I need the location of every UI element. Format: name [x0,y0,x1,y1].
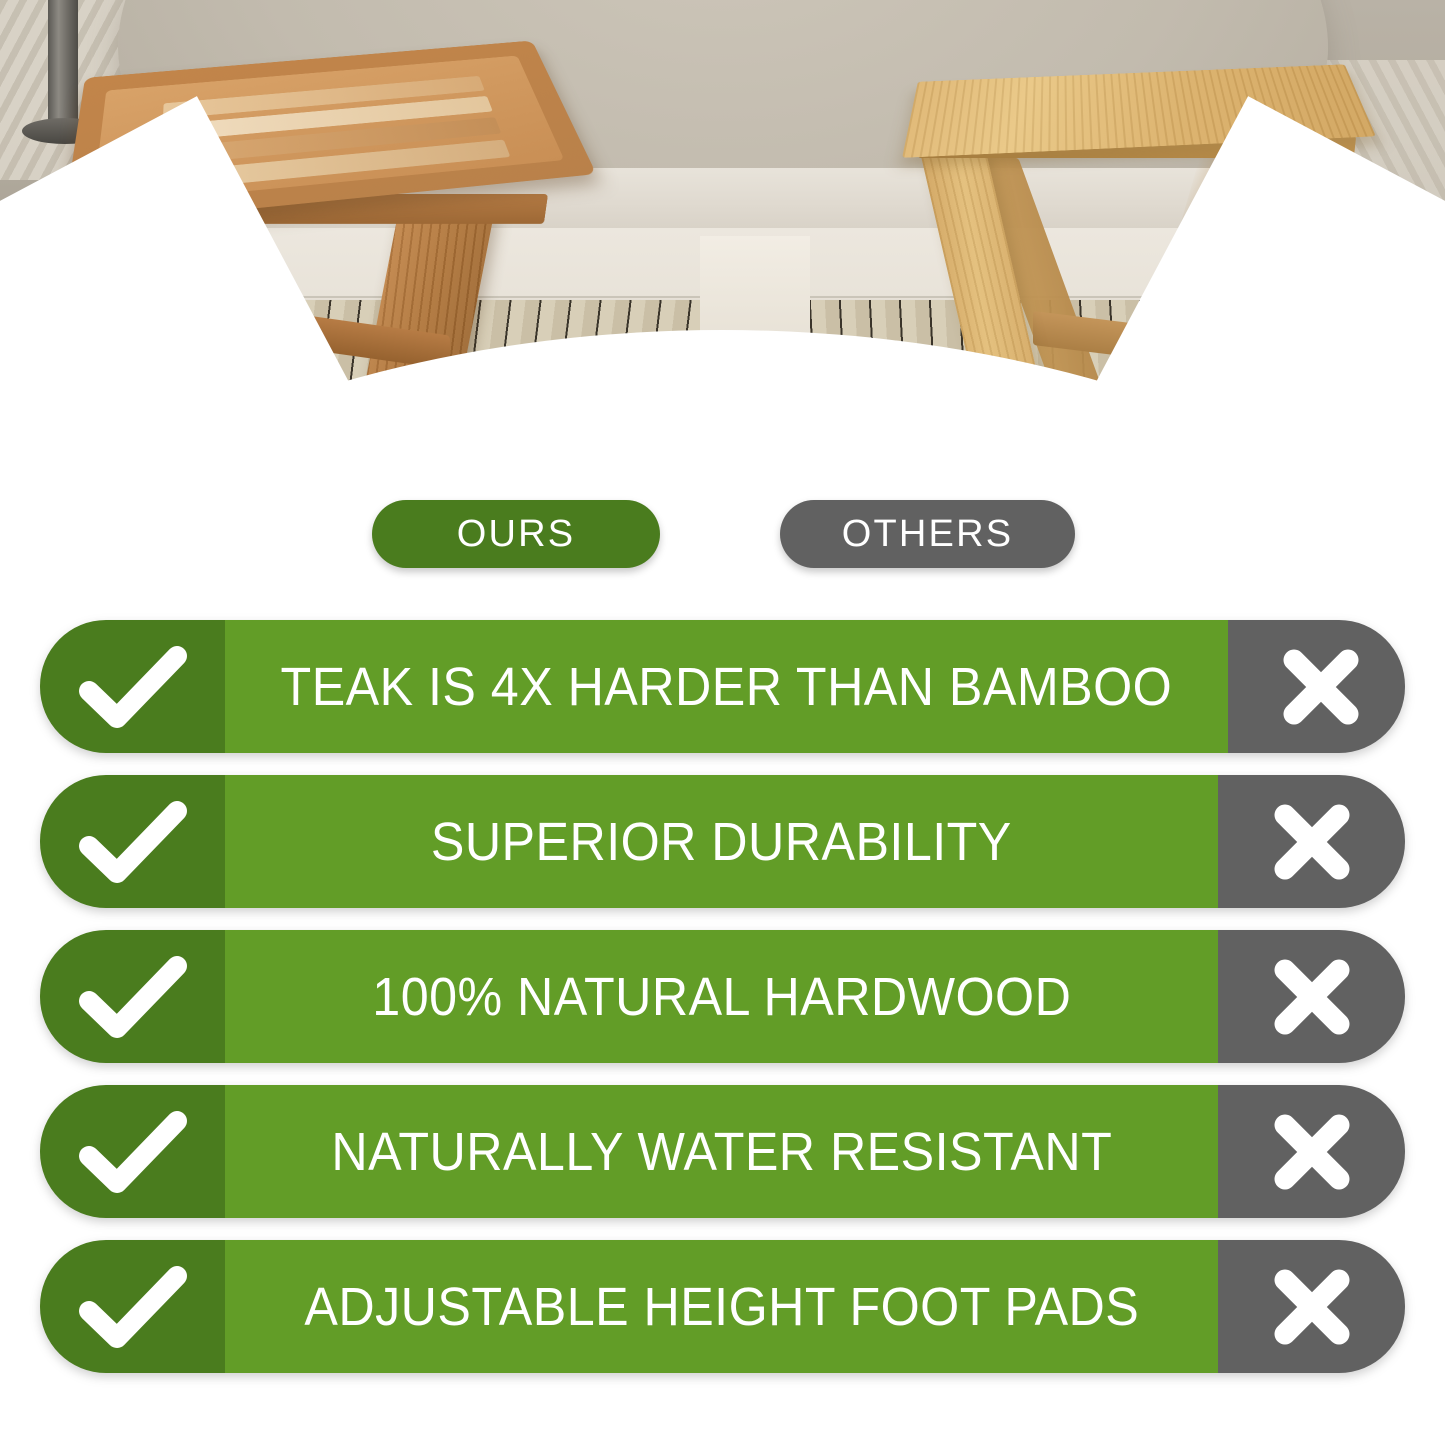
feature-label-cell: ADJUSTABLE HEIGHT FOOT PADS [225,1240,1218,1373]
feature-label-cell: 100% NATURAL HARDWOOD [225,930,1218,1063]
comparison-row: 100% NATURAL HARDWOOD [0,930,1445,1063]
comparison-row: NATURALLY WATER RESISTANT [0,1085,1445,1218]
x-icon [1269,1109,1355,1195]
others-x-cell [1218,930,1405,1063]
feature-label-cell: NATURALLY WATER RESISTANT [225,1085,1218,1218]
check-icon [79,1109,187,1195]
ours-check-cell [40,1085,225,1218]
feature-label: TEAK IS 4X HARDER THAN BAMBOO [281,656,1173,718]
feature-label-cell: SUPERIOR DURABILITY [225,775,1218,908]
ours-check-cell [40,930,225,1063]
feature-label: 100% NATURAL HARDWOOD [372,966,1071,1028]
others-x-cell [1218,1085,1405,1218]
comparison-row-track: SUPERIOR DURABILITY [40,775,1405,908]
x-icon [1269,954,1355,1040]
feature-label: ADJUSTABLE HEIGHT FOOT PADS [304,1276,1139,1338]
ours-check-cell [40,620,225,753]
ours-check-cell [40,775,225,908]
comparison-row-track: NATURALLY WATER RESISTANT [40,1085,1405,1218]
others-pill[interactable]: OTHERS [780,500,1075,568]
comparison-row-track: TEAK IS 4X HARDER THAN BAMBOO [40,620,1405,753]
ours-check-cell [40,1240,225,1373]
hero-product-photo [0,0,1445,600]
comparison-row: ADJUSTABLE HEIGHT FOOT PADS [0,1240,1445,1373]
x-icon [1278,644,1364,730]
bathroom-scene [0,0,1445,600]
comparison-row-track: ADJUSTABLE HEIGHT FOOT PADS [40,1240,1405,1373]
photo-bottom-mask [0,575,1445,600]
feature-label: SUPERIOR DURABILITY [431,811,1012,873]
feature-label-cell: TEAK IS 4X HARDER THAN BAMBOO [225,620,1228,753]
x-icon [1269,1264,1355,1350]
others-x-cell [1218,775,1405,908]
others-x-cell [1218,1240,1405,1373]
comparison-row: SUPERIOR DURABILITY [0,775,1445,908]
feature-label: NATURALLY WATER RESISTANT [331,1121,1112,1183]
check-icon [79,1264,187,1350]
comparison-row: TEAK IS 4X HARDER THAN BAMBOO [0,620,1445,753]
others-x-cell [1228,620,1405,753]
x-icon [1269,799,1355,885]
check-icon [79,799,187,885]
check-icon [79,954,187,1040]
check-icon [79,644,187,730]
ours-pill[interactable]: OURS [372,500,660,568]
comparison-row-track: 100% NATURAL HARDWOOD [40,930,1405,1063]
comparison-table: TEAK IS 4X HARDER THAN BAMBOO SUPERIOR D… [0,620,1445,1395]
